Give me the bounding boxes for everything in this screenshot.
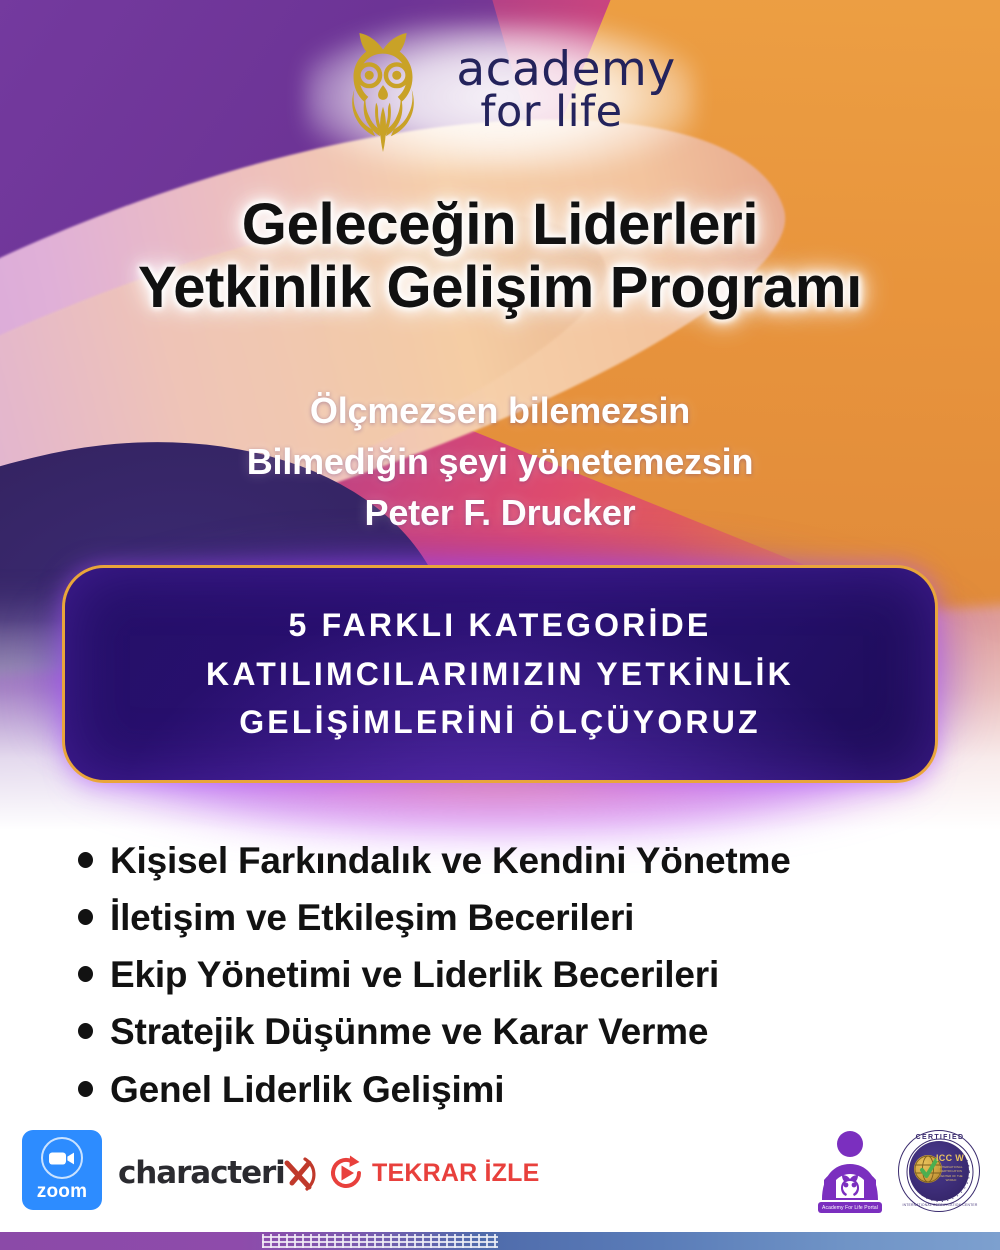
list-item: Genel Liderlik Gelişimi xyxy=(78,1067,958,1112)
footer-logo-bar: zoom characteri TEKRAR İZLE xyxy=(0,1122,1000,1232)
person-reading-icon xyxy=(812,1128,888,1208)
highlight-box: 5 FARKLI KATEGORİDE KATILIMCILARIMIZIN Y… xyxy=(62,565,938,783)
bullet-icon xyxy=(78,852,93,868)
video-camera-glyph xyxy=(49,1151,75,1166)
list-item-label: Ekip Yönetimi ve Liderlik Becerileri xyxy=(110,952,719,997)
quote-attribution: Peter F. Drucker xyxy=(0,487,1000,538)
strip-dot-pattern xyxy=(262,1234,498,1248)
list-item-label: Kişisel Farkındalık ve Kendini Yönetme xyxy=(110,838,791,883)
seal-certified-label: CERTIFIED xyxy=(899,1134,981,1141)
bullet-icon xyxy=(78,966,93,982)
highlight-text: 5 FARKLI KATEGORİDE KATILIMCILARIMIZIN Y… xyxy=(180,601,820,747)
replay-play-icon xyxy=(326,1153,366,1193)
icc-certification-seal: CERTIFIED ICC W INTERNATIONAL CERTIFICAT… xyxy=(898,1130,980,1212)
bullet-icon xyxy=(78,1081,93,1097)
list-item-label: Stratejik Düşünme ve Karar Verme xyxy=(110,1009,708,1054)
highlight-line-3: GELİŞİMLERİNİ ÖLÇÜYORUZ xyxy=(206,698,794,747)
characterix-label: characteri xyxy=(118,1155,285,1191)
highlight-line-2: KATILIMCILARIMIZIN YETKİNLİK xyxy=(206,650,794,699)
list-item-label: Genel Liderlik Gelişimi xyxy=(110,1067,504,1112)
list-item-label: İletişim ve Etkileşim Becerileri xyxy=(110,895,634,940)
quote-block: Ölçmezsen bilemezsin Bilmediğin şeyi yön… xyxy=(0,385,1000,538)
seal-subtitle: INTERNATIONAL CERTIFICATION CENTER OF TH… xyxy=(936,1165,966,1182)
characterix-x-icon xyxy=(283,1154,317,1192)
zoom-label: zoom xyxy=(37,1181,87,1203)
wordmark-for-life: for life xyxy=(480,92,675,133)
seal-subtitle-line-4: WORLD xyxy=(936,1178,966,1182)
portal-badge-banner: Academy For Life Portal xyxy=(818,1202,882,1213)
bullet-icon xyxy=(78,1023,93,1039)
bullet-icon xyxy=(78,909,93,925)
highlight-banner: 5 FARKLI KATEGORİDE KATILIMCILARIMIZIN Y… xyxy=(62,565,938,783)
list-item: İletişim ve Etkileşim Becerileri xyxy=(78,895,958,940)
video-camera-icon xyxy=(41,1137,83,1179)
page-title: Geleceğin Liderleri Yetkinlik Gelişim Pr… xyxy=(0,193,1000,319)
brand-wordmark: academy for life xyxy=(456,47,675,133)
seal-bottom-label: INTERNATIONAL CERTIFICATION CENTER xyxy=(899,1203,981,1207)
highlight-line-1: 5 FARKLI KATEGORİDE xyxy=(206,601,794,650)
quote-line-1: Ölçmezsen bilemezsin xyxy=(0,385,1000,436)
characterix-logo: characteri xyxy=(118,1154,317,1192)
bottom-decor-strip xyxy=(0,1232,1000,1250)
list-item: Stratejik Düşünme ve Karar Verme xyxy=(78,1009,958,1054)
list-item: Kişisel Farkındalık ve Kendini Yönetme xyxy=(78,838,958,883)
wordmark-academy: academy xyxy=(456,47,675,92)
academy-portal-badge: Academy For Life Portal xyxy=(812,1128,888,1216)
tekrar-izle-logo: TEKRAR İZLE xyxy=(326,1153,539,1193)
tekrar-izle-label: TEKRAR İZLE xyxy=(372,1159,539,1188)
title-line-1: Geleceğin Liderleri xyxy=(0,193,1000,256)
category-list: Kişisel Farkındalık ve Kendini Yönetme İ… xyxy=(78,838,958,1124)
poster-canvas: academy for life Geleceğin Liderleri Yet… xyxy=(0,0,1000,1250)
zoom-logo: zoom xyxy=(22,1130,102,1210)
list-item: Ekip Yönetimi ve Liderlik Becerileri xyxy=(78,952,958,997)
portal-badge-label: Academy For Life Portal xyxy=(822,1205,878,1211)
quote-line-2: Bilmediğin şeyi yönetemezsin xyxy=(0,436,1000,487)
title-line-2: Yetkinlik Gelişim Programı xyxy=(0,256,1000,319)
brand-logo: academy for life xyxy=(0,28,1000,152)
seal-inner-disc: ICC W INTERNATIONAL CERTIFICATION CENTER… xyxy=(909,1141,969,1201)
owl-icon xyxy=(324,28,442,152)
seal-iccw-label: ICC W xyxy=(936,1153,964,1163)
